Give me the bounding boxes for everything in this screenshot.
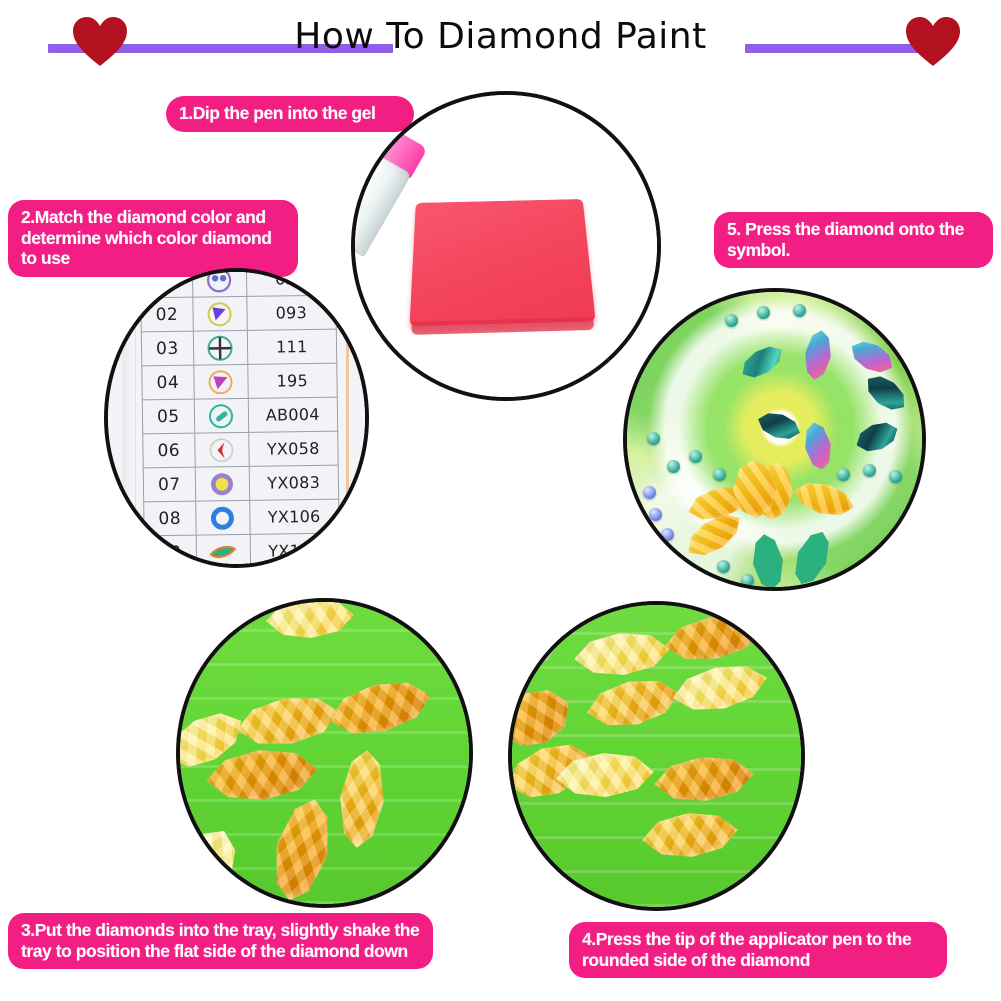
legend-code: 111 [247,329,337,364]
legend-code: 093 [246,295,336,330]
table-row: 09 YX125 [144,533,339,568]
canvas-dot [741,574,754,587]
left-arrow-symbol [194,432,248,467]
canvas-dot [649,508,662,521]
canvas-dot [837,468,850,481]
canvas-dot [725,314,738,327]
tray-diamond [669,657,772,718]
triangle-corner-symbol [193,364,247,399]
leaf-symbol [196,534,250,568]
canvas-dot [689,450,702,463]
canvas-dot [643,486,656,499]
step-2-label: 2.Match the diamond color and determine … [8,200,298,277]
legend-code: YX058 [248,431,338,466]
legend-code: AB004 [248,397,338,432]
canvas-dot [757,306,770,319]
photo-content [180,602,469,904]
pen-barrel [623,288,668,349]
table-row: 06 YX058 [143,431,338,468]
tray-diamond [640,808,740,862]
legend-code: YX125 [250,533,340,568]
legend-number: 01 [140,268,192,298]
canvas-empty-symbol [749,532,787,591]
plus-cross-symbol [193,330,247,365]
table-row: 07 YX083 [143,465,338,502]
pen-dipping-into-gel-photo [351,91,661,401]
canvas-dot [667,460,680,473]
tray-diamond [264,793,340,906]
diamonds-in-tray-photo [176,598,473,908]
canvas-dot [863,464,876,477]
open-ring-symbol [195,500,249,535]
photo-content [355,95,657,397]
canvas-dot [713,468,726,481]
table-row: 08 YX106 [144,499,339,536]
page-header: How To Diamond Paint [0,0,1001,90]
legend-number: 05 [142,399,194,434]
gel-pad [409,199,595,326]
canvas-dot [889,470,902,483]
step-4-label: 4.Press the tip of the applicator pen to… [569,922,947,978]
legend-code: YX106 [249,499,339,534]
canvas-gem [736,340,788,385]
legend-number: 08 [144,501,196,536]
canvas-gem [860,369,912,418]
legend-number: 06 [143,433,195,468]
triangle-corner-symbol [193,296,247,331]
canvas-gem [852,417,903,458]
step-3-label: 3.Put the diamonds into the tray, slight… [8,913,433,969]
canvas-empty-symbol [788,526,837,589]
tray-diamond [572,628,672,680]
canvas-dot [793,304,806,317]
tray-diamond [652,752,756,806]
placing-diamond-on-canvas-photo [623,288,926,591]
chart-canvas-edge [122,268,136,568]
photo-content [627,292,922,587]
tray-diamond [176,818,250,908]
tray-diamond [324,672,437,744]
legend-number: 02 [141,297,193,332]
filled-dot-symbol [195,466,249,501]
step-5-label: 5. Press the diamond onto the symbol. [714,212,993,268]
tray-diamond [265,598,356,641]
canvas-gem [846,335,899,380]
tray-diamond [335,748,389,850]
pen-picking-diamond-photo [508,601,805,911]
color-legend-table: 01 020 02 093 03 [140,268,340,568]
table-row: 05 AB004 [142,397,337,434]
canvas-dot [647,432,660,445]
legend-number: 04 [142,365,194,400]
photo-content [512,605,801,907]
legend-code: YX083 [249,465,339,500]
page-title: How To Diamond Paint [0,16,1001,57]
canvas-dot [661,528,674,541]
table-row: 02 093 [141,295,336,332]
table-row: 03 111 [141,329,336,366]
table-row: 04 195 [142,363,337,400]
canvas-gem [801,420,835,472]
legend-number: 07 [143,467,195,502]
table-row: 01 020 [140,268,335,298]
chart-orange-guide-b [346,268,349,568]
color-chart-photo: 01 020 02 093 03 [104,268,369,568]
double-dot-circle-symbol [192,268,246,297]
canvas-gem [802,328,835,381]
canvas-dot [717,560,730,573]
tray-diamond [233,689,343,752]
slash-oval-symbol [194,398,248,433]
legend-code: 020 [246,268,336,296]
legend-number: 03 [141,331,193,366]
tray-diamond [661,609,765,667]
photo-content: 01 020 02 093 03 [108,272,365,564]
tray-diamond [582,672,683,735]
legend-number: 09 [144,535,196,568]
legend-code: 195 [247,363,337,398]
canvas-gem [754,408,803,444]
canvas-gem-yellow [790,476,858,522]
